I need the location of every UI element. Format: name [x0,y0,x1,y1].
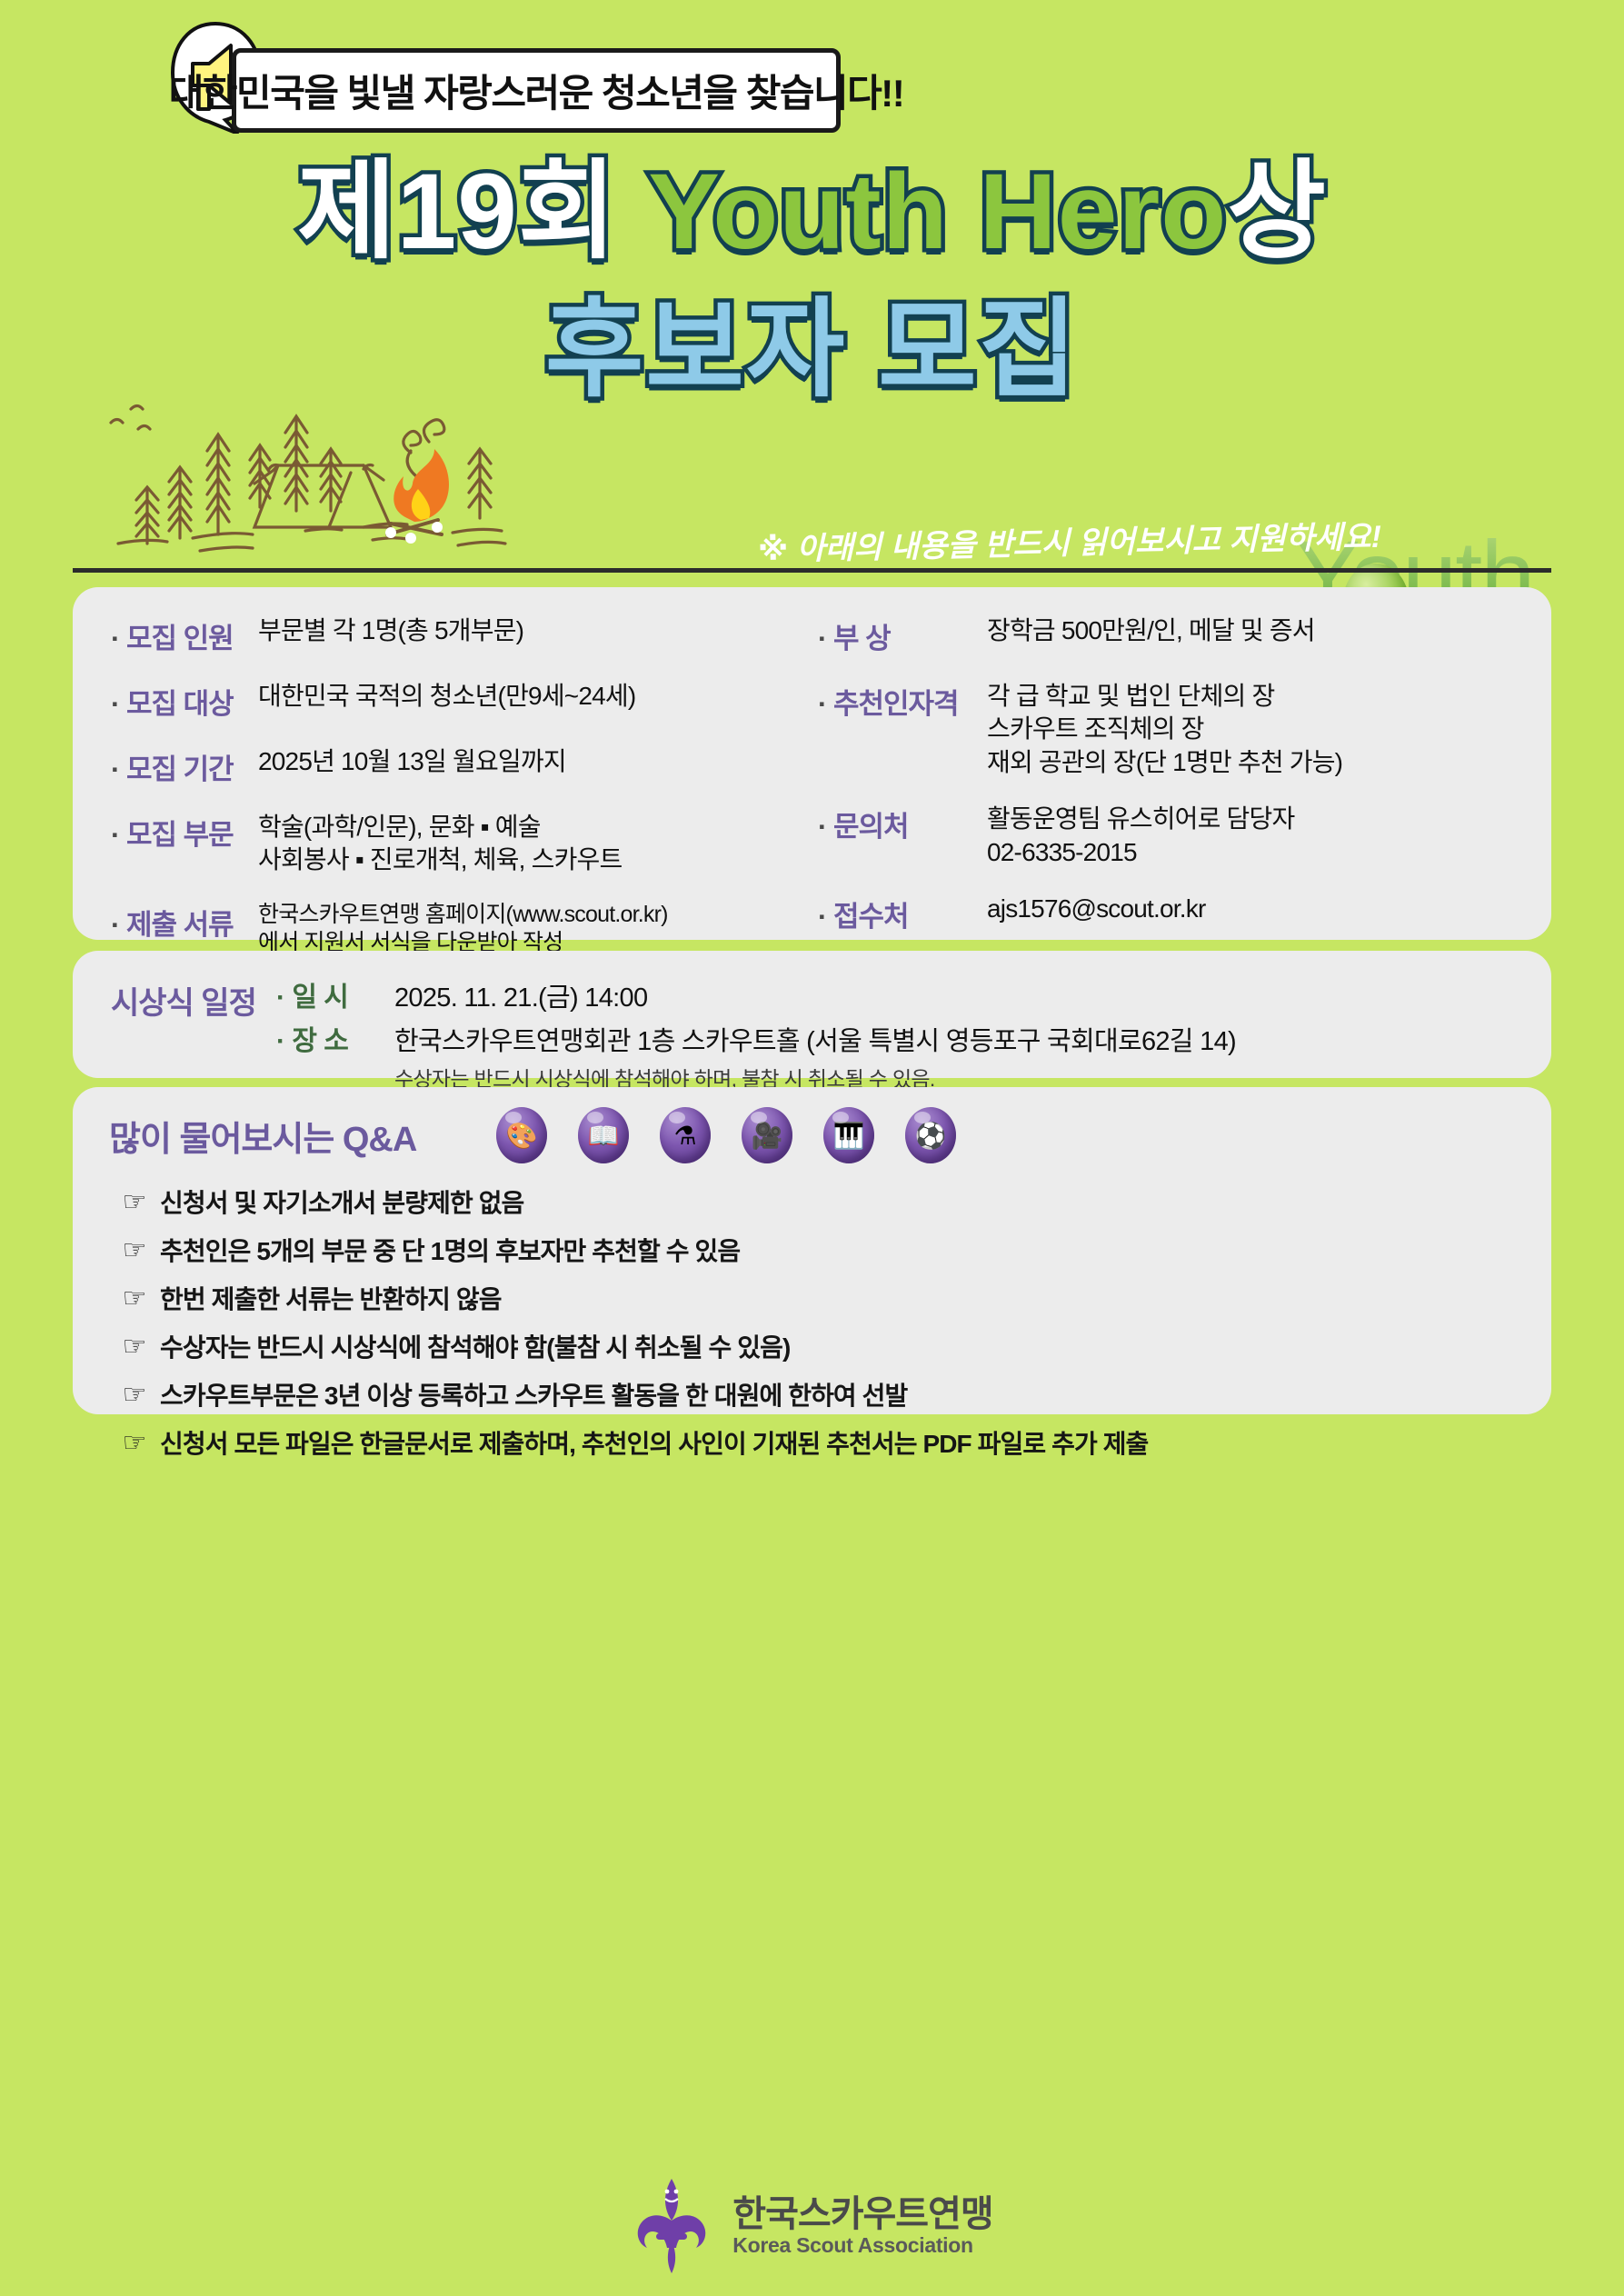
info-row-recommender: 추천인자격 각 급 학교 및 법인 단체의 장 스카우트 조직체의 장 재외 공… [818,680,1509,779]
qa-item-text: 신청서 및 자기소개서 분량제한 없음 [160,1183,523,1220]
pointing-hand-icon: ☞ [109,1283,160,1314]
header-area: 대한민국을 빛낼 자랑스러운 청소년을 찾습니다!! [0,0,1624,155]
info-value: 학술(과학/인문), 문화 ▪ 예술 사회봉사 ▪ 진로개척, 체육, 스카우트 [258,811,622,877]
section-divider [73,568,1551,573]
info-label: 문의처 [818,803,987,844]
pointing-hand-icon: ☞ [109,1186,160,1218]
headline-banner: 대한민국을 빛낼 자랑스러운 청소년을 찾습니다!! [232,48,841,133]
info-value: 각 급 학교 및 법인 단체의 장 스카우트 조직체의 장 재외 공관의 장(단… [987,680,1342,779]
info-label: 부 상 [818,614,987,656]
info-row-contact: 문의처 활동운영팀 유스히어로 담당자 02-6335-2015 [818,803,1509,869]
list-item: ☞ 신청서 및 자기소개서 분량제한 없음 [109,1183,1551,1220]
qa-item-text: 신청서 모든 파일은 한글문서로 제출하며, 추천인의 사인이 기재된 추천서는… [160,1424,1148,1461]
qa-title: 많이 물어보시는 Q&A [109,1111,463,1161]
info-left-column: 모집 인원 부문별 각 1명(총 5개부문) 모집 대상 대한민국 국적의 청소… [73,614,800,940]
recruitment-info-card: 모집 인원 부문별 각 1명(총 5개부문) 모집 대상 대한민국 국적의 청소… [73,587,1551,940]
title-edition: 제19회 [297,152,617,272]
qa-item-text: 스카우트부문은 3년 이상 등록하고 스카우트 활동을 한 대원에 한하여 선발 [160,1376,907,1413]
info-label: 추천인자격 [818,680,987,722]
info-label: 모집 인원 [111,614,258,656]
soccer-ball-icon-glyph: ⚽ [915,1121,947,1151]
list-item: ☞ 신청서 모든 파일은 한글문서로 제출하며, 추천인의 사인이 기재된 추천… [109,1424,1551,1461]
list-item: ☞ 스카우트부문은 3년 이상 등록하고 스카우트 활동을 한 대원에 한하여 … [109,1376,1551,1413]
info-label: 모집 대상 [111,680,258,722]
schedule-label: 일 시 [276,974,394,1014]
pointing-hand-icon: ☞ [109,1331,160,1363]
read-note-text: ※ 아래의 내용을 반드시 읽어보시고 지원하세요! [758,512,1382,569]
schedule-row-datetime: 일 시 2025. 11. 21.(금) 14:00 [276,974,1551,1014]
pointing-hand-icon: ☞ [109,1379,160,1411]
ceremony-schedule-rows: 일 시 2025. 11. 21.(금) 14:00 장 소 한국스카우트연맹회… [276,969,1551,1078]
title-line-1: 제19회 Youth Hero상 [0,145,1624,280]
title-youth-hero: Youth Hero [648,152,1227,272]
palette-icon-glyph: 🎨 [506,1121,538,1151]
headline-banner-text: 대한민국을 빛낼 자랑스러운 청소년을 찾습니다!! [169,63,903,118]
schedule-label: 장 소 [276,1018,394,1058]
palette-icon: 🎨 [496,1107,547,1163]
info-value: 2025년 10월 13일 월요일까지 [258,745,566,778]
footer: 한국스카우트연맹 Korea Scout Association [0,2177,1624,2275]
list-item: ☞ 한번 제출한 서류는 반환하지 않음 [109,1280,1551,1316]
organization-name-en: Korea Scout Association [732,2233,992,2258]
book-icon-glyph: 📖 [588,1121,620,1151]
title-suffix: 상 [1227,152,1327,272]
qa-icon-row: 🎨 📖 ⚗ 🎥 🎹 ⚽ [496,1107,956,1163]
schedule-row-venue: 장 소 한국스카우트연맹회관 1층 스카우트홀 (서울 특별시 영등포구 국회대… [276,1018,1551,1058]
list-item: ☞ 수상자는 반드시 시상식에 참석해야 함(불참 시 취소될 수 있음) [109,1328,1551,1364]
info-label: 모집 기간 [111,745,258,787]
piano-icon-glyph: 🎹 [833,1121,865,1151]
pointing-hand-icon: ☞ [109,1234,160,1266]
info-value: 부문별 각 1명(총 5개부문) [258,614,523,647]
scout-fleur-de-lis-icon [631,2177,712,2275]
qa-item-text: 한번 제출한 서류는 반환하지 않음 [160,1280,502,1316]
schedule-value: 한국스카우트연맹회관 1층 스카우트홀 (서울 특별시 영등포구 국회대로62길… [394,1020,1236,1058]
organization-name-ko: 한국스카우트연맹 [732,2195,992,2233]
ceremony-schedule-card: 시상식 일정 일 시 2025. 11. 21.(금) 14:00 장 소 한국… [73,951,1551,1078]
info-value: ajs1576@scout.or.kr [987,893,1205,925]
info-label: 제출 서류 [111,901,258,943]
qa-item-text: 추천인은 5개의 부문 중 단 1명의 후보자만 추천할 수 있음 [160,1232,740,1268]
read-note: ※ 아래의 내용을 반드시 읽어보시고 지원하세요! [491,518,1400,563]
ceremony-schedule-title: 시상식 일정 [111,969,276,1078]
qa-list: ☞ 신청서 및 자기소개서 분량제한 없음 ☞ 추천인은 5개의 부문 중 단 … [109,1183,1551,1461]
camera-icon: 🎥 [742,1107,792,1163]
info-row-recruit-count: 모집 인원 부문별 각 1명(총 5개부문) [111,614,800,656]
qa-header: 많이 물어보시는 Q&A 🎨 📖 ⚗ 🎥 🎹 ⚽ [109,1107,1551,1163]
info-value: 활동운영팀 유스히어로 담당자 02-6335-2015 [987,803,1294,869]
pointing-hand-icon: ☞ [109,1427,160,1459]
info-row-submission: 접수처 ajs1576@scout.or.kr [818,893,1509,934]
info-row-recruit-target: 모집 대상 대한민국 국적의 청소년(만9세~24세) [111,680,800,722]
book-icon: 📖 [578,1107,629,1163]
piano-icon: 🎹 [823,1107,874,1163]
info-label: 접수처 [818,893,987,934]
flask-icon-glyph: ⚗ [673,1121,696,1151]
soccer-ball-icon: ⚽ [905,1107,956,1163]
title-subtitle: 후보자 모집 [545,290,1080,410]
schedule-value: 2025. 11. 21.(금) 14:00 [394,976,647,1014]
info-value: 대한민국 국적의 청소년(만9세~24세) [258,680,635,713]
flask-icon: ⚗ [660,1107,711,1163]
info-row-categories: 모집 부문 학술(과학/인문), 문화 ▪ 예술 사회봉사 ▪ 진로개척, 체육… [111,811,800,877]
info-row-recruit-period: 모집 기간 2025년 10월 13일 월요일까지 [111,745,800,787]
qa-card: 많이 물어보시는 Q&A 🎨 📖 ⚗ 🎥 🎹 ⚽ ☞ 신청서 및 자기소개서 분… [73,1087,1551,1414]
camera-icon-glyph: 🎥 [752,1121,783,1151]
info-label: 모집 부문 [111,811,258,853]
qa-item-text: 수상자는 반드시 시상식에 참석해야 함(불참 시 취소될 수 있음) [160,1328,790,1364]
list-item: ☞ 추천인은 5개의 부문 중 단 1명의 후보자만 추천할 수 있음 [109,1232,1551,1268]
footer-text-block: 한국스카우트연맹 Korea Scout Association [732,2195,992,2258]
info-right-column: 부 상 장학금 500만원/인, 메달 및 증서 추천인자격 각 급 학교 및 … [800,614,1509,940]
info-row-prize: 부 상 장학금 500만원/인, 메달 및 증서 [818,614,1509,656]
info-value: 장학금 500만원/인, 메달 및 증서 [987,614,1315,647]
